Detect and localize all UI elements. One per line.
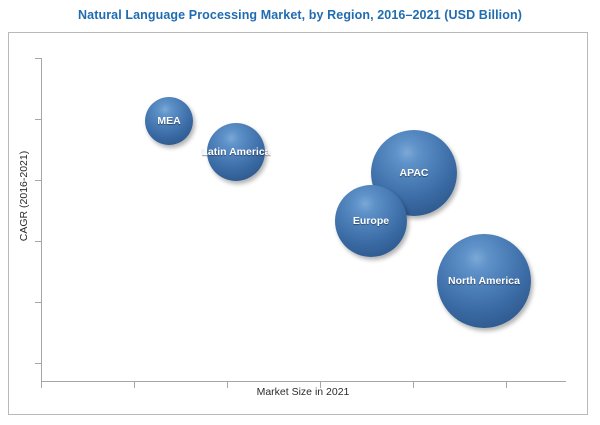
bubble-label: Europe (353, 215, 389, 227)
plot-area: MEALatin AmericaAPACEuropeNorth America (41, 58, 565, 381)
bubble-europe[interactable]: Europe (335, 185, 407, 257)
bubble-north-america[interactable]: North America (437, 234, 531, 328)
x-axis-title: Market Size in 2021 (41, 386, 565, 398)
bubble-latin-america[interactable]: Latin America (207, 123, 265, 181)
bubble-mea[interactable]: MEA (145, 97, 193, 145)
bubble-label: APAC (400, 167, 429, 179)
bubble-label: MEA (157, 115, 180, 127)
y-axis-title: CAGR (2016-2021) (18, 96, 30, 296)
bubble-series: MEALatin AmericaAPACEuropeNorth America (0, 0, 600, 425)
bubble-label: North America (448, 275, 520, 287)
bubble-chart-figure: Natural Language Processing Market, by R… (0, 0, 600, 425)
bubble-label: Latin America (201, 146, 270, 158)
